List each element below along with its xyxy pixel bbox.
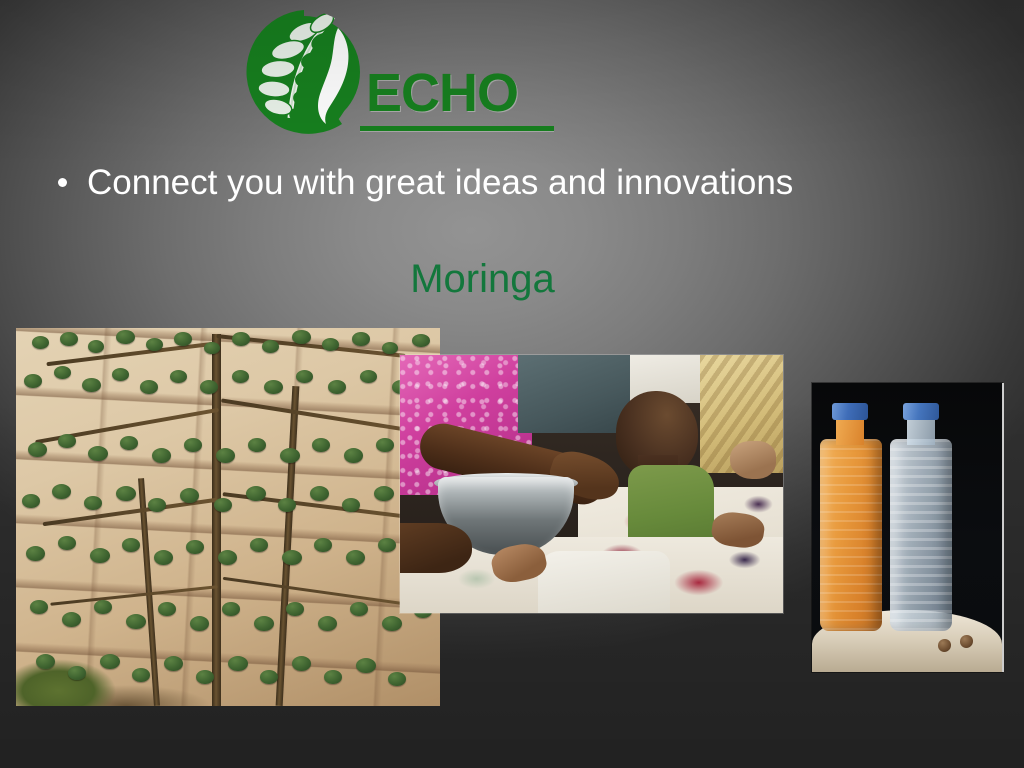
bullet-dot-icon (58, 178, 67, 187)
turbid-bottle-cap (832, 403, 868, 420)
lower-left-hand (400, 523, 472, 573)
presentation-slide: ECHO Connect you with great ideas and in… (0, 0, 1024, 768)
child-white-pants (538, 551, 670, 613)
clear-water-bottle (890, 439, 952, 631)
echo-logo: ECHO (238, 4, 558, 140)
slide-subtitle: Moringa (0, 255, 965, 303)
bullet-text: Connect you with great ideas and innovat… (87, 162, 793, 204)
bystander-hand (730, 441, 776, 479)
echo-wordmark: ECHO (366, 66, 518, 120)
turbid-bottle-neck (836, 417, 864, 445)
moringa-tree-photo (16, 328, 440, 706)
child-feeding-photo (400, 355, 783, 613)
turbid-water-bottle (820, 439, 882, 631)
water-bottles-photo (812, 383, 1002, 672)
bullet-item: Connect you with great ideas and innovat… (58, 162, 978, 204)
logo-underline (360, 126, 554, 131)
clear-bottle-cap (903, 403, 939, 420)
clear-bottle-neck (907, 417, 935, 445)
echo-leaf-globe-emblem-icon (238, 6, 370, 138)
tree-foliage (16, 328, 440, 706)
